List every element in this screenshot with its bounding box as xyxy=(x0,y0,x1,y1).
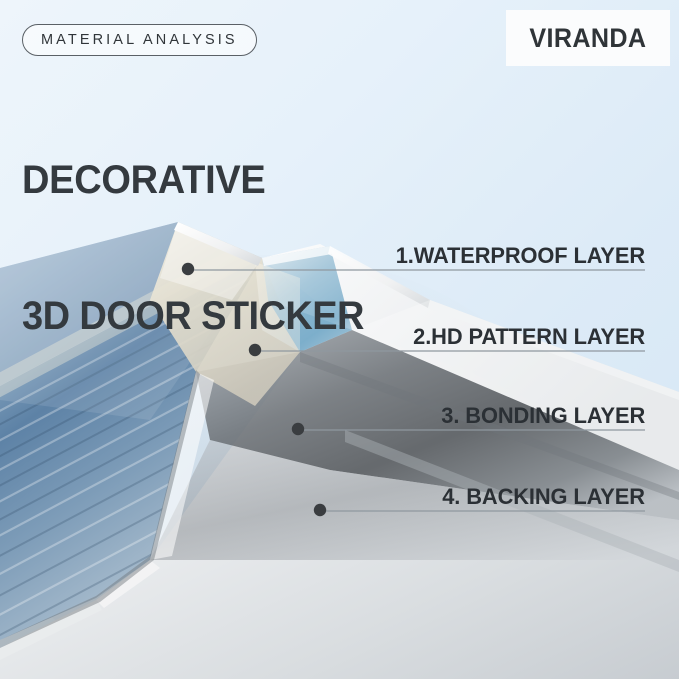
material-analysis-badge: MATERIAL ANALYSIS xyxy=(22,24,257,56)
callout-label-2: 2.HD PATTERN LAYER xyxy=(406,324,645,350)
callout-label-4: 4. BACKING LAYER xyxy=(436,484,645,510)
callout-text-2: 2.HD PATTERN LAYER xyxy=(413,324,645,350)
callout-text-3: 3. BONDING LAYER xyxy=(441,403,645,429)
brand-name: VIRANDA xyxy=(529,23,646,54)
title-line-2: 3D DOOR STICKER xyxy=(22,294,364,339)
callout-label-1: 1.WATERPROOF LAYER xyxy=(388,243,645,269)
infographic-canvas: MATERIAL ANALYSIS VIRANDA DECORATIVE 3D … xyxy=(0,0,679,679)
callout-text-1: 1.WATERPROOF LAYER xyxy=(396,243,645,269)
callout-text-4: 4. BACKING LAYER xyxy=(442,484,645,510)
callout-dot-4 xyxy=(314,504,326,516)
title-line-1: DECORATIVE xyxy=(22,158,364,203)
callout-label-3: 3. BONDING LAYER xyxy=(435,403,645,429)
badge-label: MATERIAL ANALYSIS xyxy=(41,32,238,48)
brand-logo-box: VIRANDA xyxy=(506,10,670,66)
page-title: DECORATIVE 3D DOOR STICKER xyxy=(22,68,364,430)
